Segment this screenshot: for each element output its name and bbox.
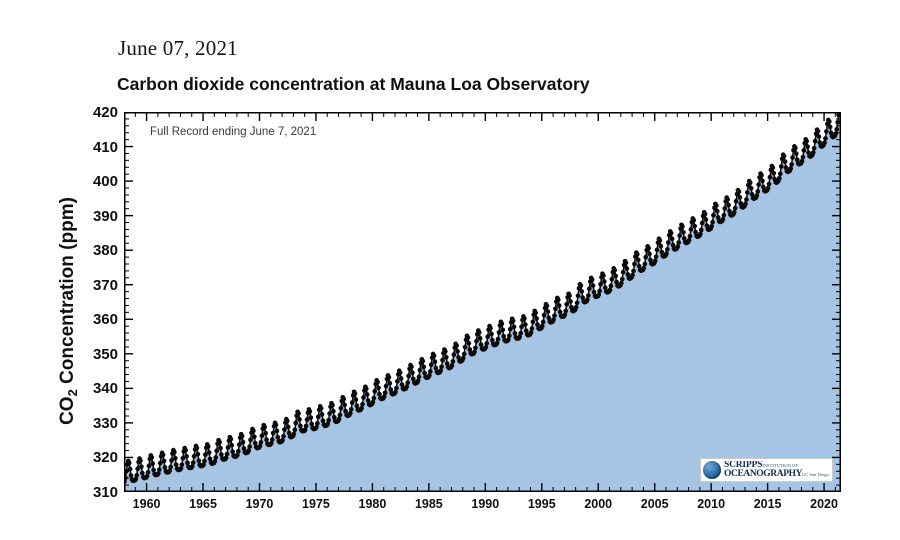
y-tick-400: 400 — [72, 174, 118, 189]
y-tick-320: 320 — [72, 450, 118, 465]
y-tick-380: 380 — [72, 243, 118, 258]
logo-oceanography: OCEANOGRAPHY — [724, 469, 802, 479]
x-tick-2015: 2015 — [738, 498, 798, 511]
x-tick-1995: 1995 — [512, 498, 572, 511]
co2-keeling-curve — [124, 112, 841, 492]
chart-title: Carbon dioxide concentration at Mauna Lo… — [117, 74, 590, 95]
x-tick-2010: 2010 — [681, 498, 741, 511]
logo-line-2: OCEANOGRAPHYUC San Diego — [724, 470, 829, 480]
x-tick-2020: 2020 — [794, 498, 854, 511]
logo-campus: UC San Diego — [802, 472, 829, 477]
y-tick-370: 370 — [72, 278, 118, 293]
globe-icon — [703, 461, 721, 479]
chart-page: June 07, 2021 Carbon dioxide concentrati… — [0, 0, 900, 540]
y-tick-310: 310 — [72, 485, 118, 500]
x-tick-1975: 1975 — [286, 498, 346, 511]
record-annotation: Full Record ending June 7, 2021 — [150, 126, 316, 138]
y-tick-340: 340 — [72, 381, 118, 396]
x-tick-1965: 1965 — [173, 498, 233, 511]
date-heading: June 07, 2021 — [118, 36, 238, 61]
y-tick-360: 360 — [72, 312, 118, 327]
x-tick-1980: 1980 — [342, 498, 402, 511]
y-tick-410: 410 — [72, 140, 118, 155]
logo-institution: INSTITUTION OF — [762, 463, 798, 468]
y-tick-330: 330 — [72, 416, 118, 431]
x-tick-2005: 2005 — [625, 498, 685, 511]
x-tick-2000: 2000 — [568, 498, 628, 511]
y-tick-350: 350 — [72, 347, 118, 362]
x-tick-1990: 1990 — [455, 498, 515, 511]
y-tick-420: 420 — [72, 105, 118, 120]
x-tick-1985: 1985 — [399, 498, 459, 511]
x-tick-1960: 1960 — [117, 498, 177, 511]
x-tick-1970: 1970 — [229, 498, 289, 511]
scripps-logo: SCRIPPSINSTITUTION OF OCEANOGRAPHYUC San… — [700, 458, 833, 482]
y-tick-390: 390 — [72, 209, 118, 224]
logo-text: SCRIPPSINSTITUTION OF OCEANOGRAPHYUC San… — [724, 461, 829, 480]
plot-area: Full Record ending June 7, 2021 SCRIPPSI… — [124, 112, 841, 492]
